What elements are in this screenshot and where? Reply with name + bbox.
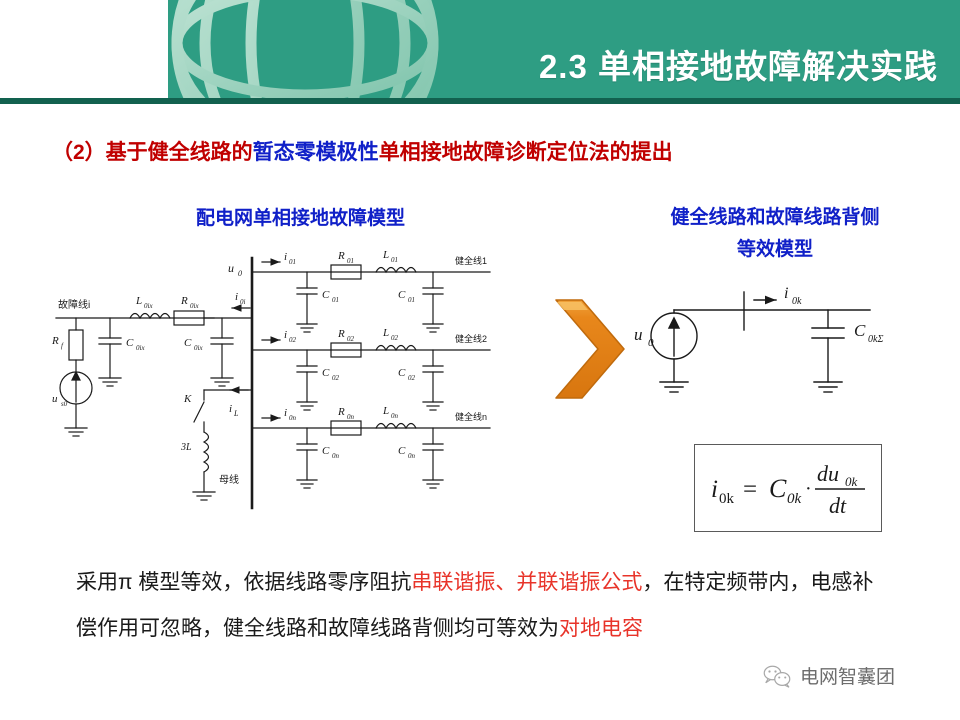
svg-text:i: i [711,476,718,503]
left-circuit-diagram: 故障线i R f u s0 C 0ix L 0ix [18,250,528,515]
formula-box: i 0k = C 0k · du 0k dt [694,444,882,532]
slide-header: 2.3 单相接地故障解决实践 [0,0,960,104]
svg-text:u: u [228,261,234,275]
svg-text:C: C [398,367,406,379]
svg-text:故障线i: 故障线i [58,298,90,311]
svg-text:0k: 0k [719,491,735,507]
svg-text:0ix: 0ix [194,344,203,352]
svg-text:0i: 0i [240,298,246,306]
svg-text:0k: 0k [845,474,858,489]
svg-text:0n: 0n [289,414,297,422]
svg-text:L: L [382,250,389,261]
svg-text:C: C [398,445,406,457]
svg-text:R: R [337,250,345,262]
section-subtitle: （2）基于健全线路的暂态零模极性单相接地故障诊断定位法的提出 [52,136,673,166]
svg-text:0kΣ: 0kΣ [868,334,883,345]
svg-text:L: L [233,409,239,418]
svg-text:du: du [817,461,839,486]
svg-text:i: i [235,291,238,303]
svg-text:02: 02 [347,335,355,343]
svg-text:C: C [322,445,330,457]
svg-text:0n: 0n [391,412,399,420]
svg-text:C: C [322,289,330,301]
subtitle-part-2: 暂态零模极性 [253,141,379,164]
svg-text:健全线2: 健全线2 [455,333,487,344]
right-diagram-title-line2: 等效模型 [620,234,930,266]
svg-text:C: C [322,367,330,379]
svg-text:0n: 0n [408,452,416,460]
svg-text:C: C [126,337,134,349]
svg-text:C: C [398,289,406,301]
footer-label: 电网智囊团 [800,662,895,689]
svg-text:R: R [51,335,59,347]
svg-text:0n: 0n [332,452,340,460]
svg-text:01: 01 [408,296,415,304]
body-line2-highlight: 对地电容 [559,617,643,640]
svg-text:02: 02 [391,334,399,342]
svg-text:健全线n: 健全线n [455,411,487,422]
subtitle-part-1: （2）基于健全线路的 [52,141,253,164]
svg-text:i: i [284,329,287,341]
body-line1-highlight: 串联谐振、并联谐振公式 [411,571,642,594]
svg-text:K: K [183,393,192,405]
svg-text:s0: s0 [61,400,68,408]
header-divider [0,98,960,104]
svg-text:i: i [229,403,232,415]
body-line1-a: 采用π 模型等效，依据线路零序阻抗 [76,571,411,594]
svg-text:02: 02 [289,336,297,344]
svg-text:0k: 0k [792,296,802,307]
svg-text:01: 01 [332,296,339,304]
svg-text:健全线1: 健全线1 [455,255,487,266]
svg-text:R: R [337,406,345,418]
svg-text:0ix: 0ix [190,302,199,310]
svg-text:0: 0 [648,337,654,349]
svg-text:u: u [634,325,643,344]
svg-text:i: i [284,407,287,419]
svg-text:01: 01 [347,257,354,265]
right-circuit-diagram: u 0 i 0k C 0kΣ [612,278,932,418]
wechat-icon [762,664,792,688]
svg-text:L: L [135,295,142,307]
svg-text:C: C [854,321,866,340]
svg-text:0n: 0n [347,413,355,421]
footer-watermark: 电网智囊团 [762,662,895,689]
subtitle-part-3: 单相接地故障诊断定位法的提出 [379,141,673,164]
svg-text:R: R [337,328,345,340]
svg-text:C: C [769,474,787,503]
svg-text:母线: 母线 [219,473,239,486]
right-diagram-title: 健全线路和故障线路背侧 等效模型 [620,202,930,266]
svg-text:u: u [52,393,58,405]
right-diagram-title-line1: 健全线路和故障线路背侧 [620,202,930,234]
svg-text:=: = [743,476,757,503]
header-white-left [0,0,168,98]
svg-text:dt: dt [829,493,847,518]
svg-text:0k: 0k [787,491,802,507]
svg-text:R: R [180,295,188,307]
svg-text:01: 01 [289,258,296,266]
left-diagram-title: 配电网单相接地故障模型 [196,203,405,230]
svg-text:02: 02 [332,374,340,382]
svg-text:0ix: 0ix [144,302,153,310]
svg-text:·: · [805,478,812,500]
svg-text:0: 0 [238,269,242,278]
svg-text:0ix: 0ix [136,344,145,352]
svg-text:3L: 3L [180,442,192,453]
body-line1-b: ，在特定频带 [642,571,768,594]
svg-text:i: i [284,251,287,263]
svg-text:02: 02 [408,374,416,382]
svg-text:f: f [61,342,64,350]
svg-text:L: L [382,405,389,417]
svg-text:i: i [784,285,788,302]
body-paragraph: 采用π 模型等效，依据线路零序阻抗串联谐振、并联谐振公式，在特定频带内，电感补偿… [76,560,888,652]
svg-text:C: C [184,337,192,349]
svg-text:L: L [382,327,389,339]
page-title: 2.3 单相接地故障解决实践 [539,40,938,88]
svg-text:01: 01 [391,256,398,264]
